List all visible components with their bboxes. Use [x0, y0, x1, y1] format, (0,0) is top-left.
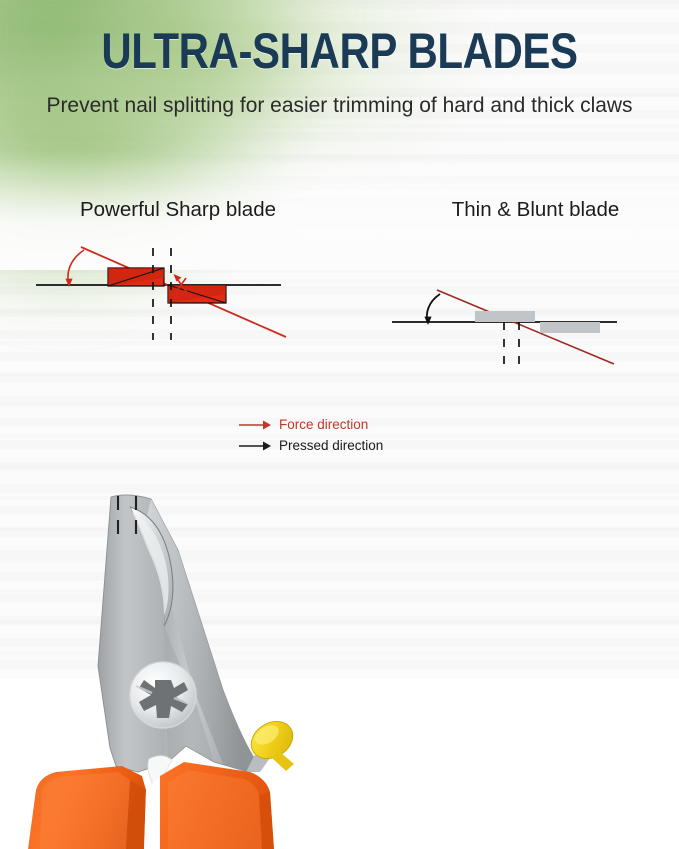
safety-lock-knob: [244, 714, 299, 772]
contact-arrow-head-up-icon: [174, 274, 182, 282]
panel-heading-right: Thin & Blunt blade: [352, 198, 679, 222]
panel-thin-blunt-blade: Thin & Blunt blade: [352, 170, 679, 679]
handle-left-highlight: [40, 772, 130, 849]
arrow-right-icon: [238, 418, 272, 432]
angle-arc-head-icon: [424, 317, 431, 325]
blade-right-bar: [540, 322, 600, 333]
page-subtitle: Prevent nail splitting for easier trimmi…: [8, 76, 670, 117]
panel-heading-left: Powerful Sharp blade: [0, 198, 352, 222]
handle-gap-shadow: [144, 776, 160, 849]
pivot-screw: [130, 662, 196, 728]
header: ULTRA-SHARP BLADES Prevent nail splittin…: [0, 0, 679, 117]
handle-right-highlight: [168, 770, 262, 849]
page-title: ULTRA-SHARP BLADES: [54, 0, 624, 76]
blade-left-wedge: [108, 268, 164, 286]
arrow-right-icon: [238, 439, 272, 453]
diagram-blunt-blade: [392, 280, 662, 365]
blade-left-bar: [475, 311, 535, 322]
tool-orange-nail-clipper: [18, 490, 338, 849]
panel-powerful-sharp-blade: Powerful Sharp blade: [0, 170, 352, 679]
diagram-sharp-blade: [36, 230, 336, 340]
